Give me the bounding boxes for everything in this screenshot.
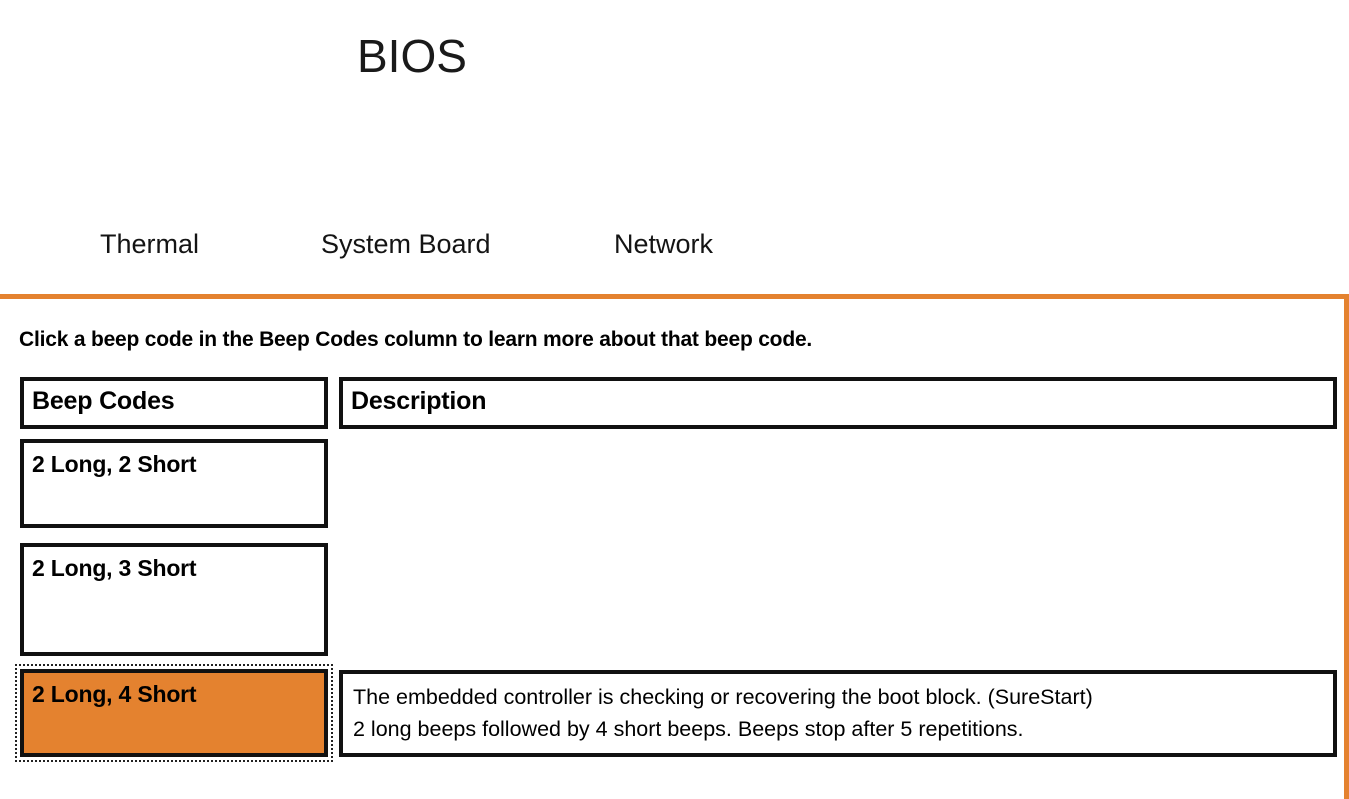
instruction-text: Click a beep code in the Beep Codes colu… xyxy=(19,327,812,353)
tab-thermal[interactable]: Thermal xyxy=(100,224,199,264)
column-header-description-label: Description xyxy=(343,381,1333,418)
description-cell-2-long-4-short: The embedded controller is checking or r… xyxy=(339,670,1337,757)
beep-codes-panel: Click a beep code in the Beep Codes colu… xyxy=(0,294,1349,799)
table-row: 2 Long, 2 Short xyxy=(0,439,1344,537)
beep-code-label: 2 Long, 2 Short xyxy=(24,443,324,480)
beep-code-cell-2-long-3-short[interactable]: 2 Long, 3 Short xyxy=(20,543,328,656)
tab-system-board[interactable]: System Board xyxy=(321,224,491,264)
tab-bar: Thermal System Board Network xyxy=(0,224,1349,296)
column-header-beep-codes-label: Beep Codes xyxy=(24,381,324,418)
description-line-1: The embedded controller is checking or r… xyxy=(343,674,1333,713)
table-row: 2 Long, 4 Short The embedded controller … xyxy=(0,669,1344,763)
column-header-beep-codes: Beep Codes xyxy=(20,377,328,429)
table-row: 2 Long, 3 Short xyxy=(0,543,1344,663)
table-header-row: Beep Codes Description xyxy=(0,377,1344,433)
beep-code-cell-2-long-4-short[interactable]: 2 Long, 4 Short xyxy=(20,669,328,757)
column-header-description: Description xyxy=(339,377,1337,429)
beep-code-cell-2-long-2-short[interactable]: 2 Long, 2 Short xyxy=(20,439,328,528)
beep-code-label: 2 Long, 3 Short xyxy=(24,547,324,584)
beep-codes-table: Beep Codes Description 2 Long, 2 Short 2… xyxy=(0,377,1344,763)
bios-beep-codes-page: BIOS Thermal System Board Network Click … xyxy=(0,0,1349,799)
page-title: BIOS xyxy=(357,28,467,84)
tab-network[interactable]: Network xyxy=(614,224,713,264)
description-line-2: 2 long beeps followed by 4 short beeps. … xyxy=(343,713,1333,745)
beep-code-label: 2 Long, 4 Short xyxy=(24,673,324,710)
